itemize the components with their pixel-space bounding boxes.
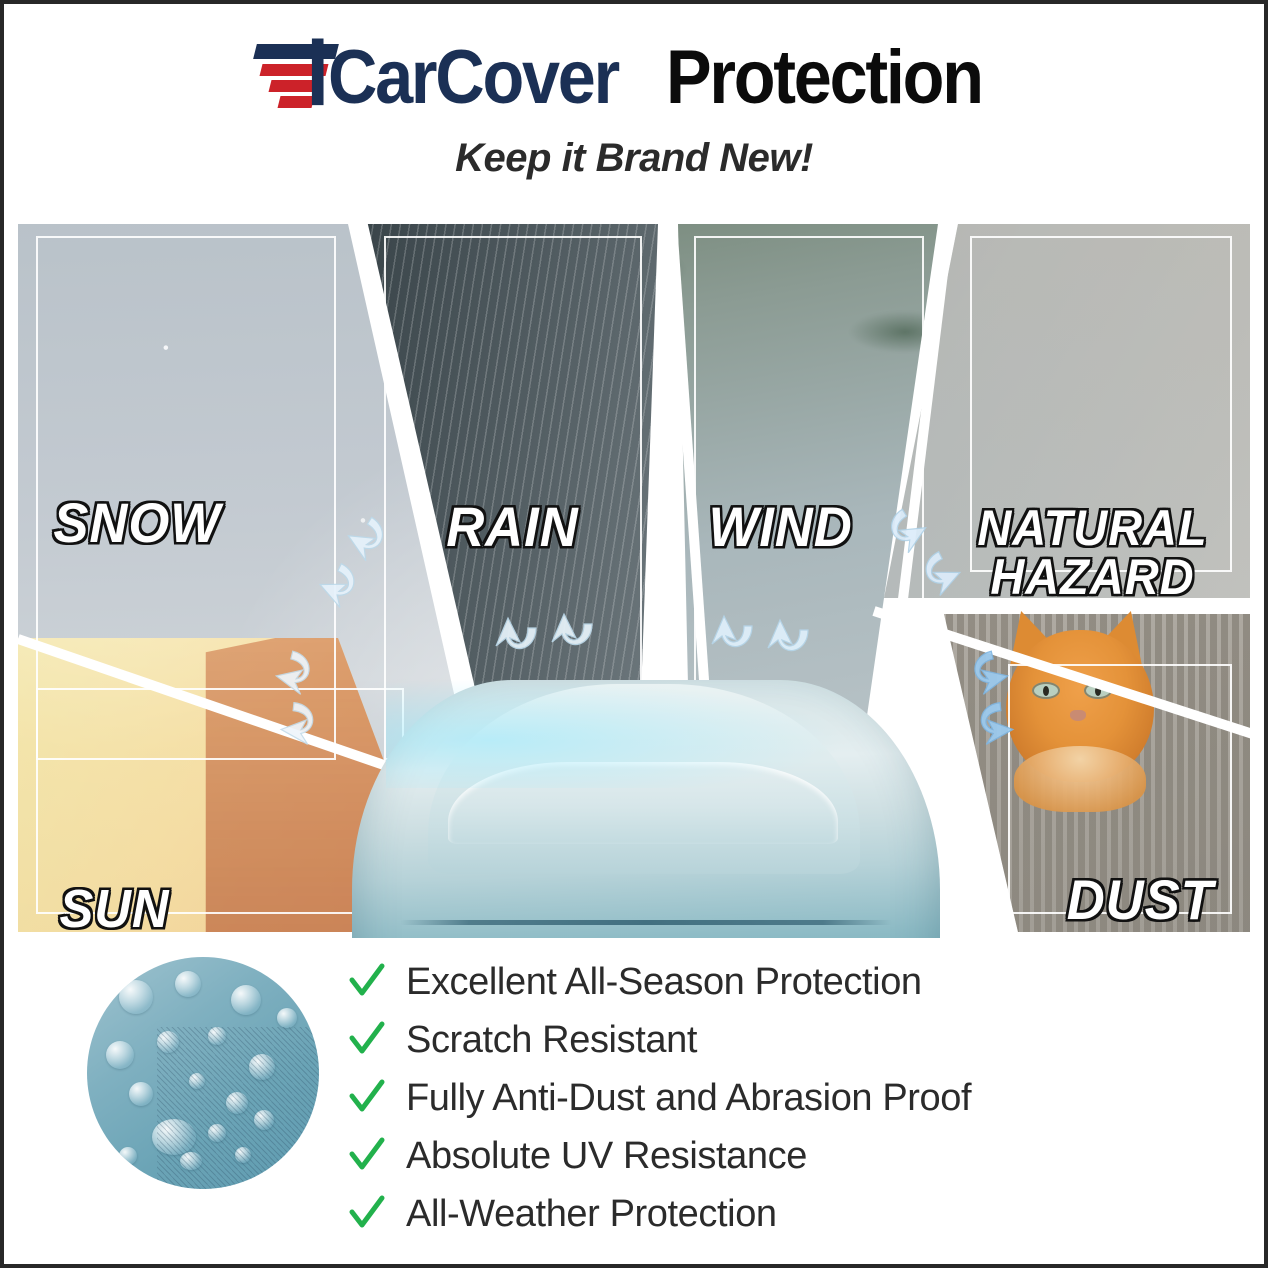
deflection-arrow-icon xyxy=(277,693,334,750)
label-wind: WIND xyxy=(709,500,853,555)
deflection-arrow-icon xyxy=(959,693,1016,750)
check-icon xyxy=(348,1079,386,1117)
feature-text: Scratch Resistant xyxy=(406,1021,697,1059)
car-cover-seam xyxy=(400,920,892,925)
check-icon xyxy=(348,1137,386,1175)
feature-list: Excellent All-Season Protection Scratch … xyxy=(348,954,971,1242)
features-section: Excellent All-Season Protection Scratch … xyxy=(4,940,1264,1266)
deflection-arrow-icon xyxy=(764,618,816,670)
tagline: Keep it Brand New! xyxy=(455,136,813,181)
deflection-arrow-icon xyxy=(708,614,760,666)
label-rain: RAIN xyxy=(446,500,578,555)
list-item: Excellent All-Season Protection xyxy=(348,954,971,1010)
car-cover-windshield xyxy=(448,762,838,844)
check-icon xyxy=(348,1021,386,1059)
label-dust: DUST xyxy=(1067,873,1214,928)
label-snow: SNOW xyxy=(53,496,221,551)
check-icon xyxy=(348,1195,386,1233)
deflection-arrow-icon xyxy=(548,612,600,664)
feature-text: All-Weather Protection xyxy=(406,1195,777,1233)
list-item: Fully Anti-Dust and Abrasion Proof xyxy=(348,1070,971,1126)
deflection-arrow-icon xyxy=(492,616,544,668)
water-beading-closeup xyxy=(87,957,319,1189)
fabric-swatch xyxy=(78,948,328,1198)
covered-car-product xyxy=(336,658,956,938)
label-sun: SUN xyxy=(60,883,170,936)
brand-initial: i xyxy=(306,28,328,120)
infographic-page: i CarCover Protection Keep it Brand New!… xyxy=(0,0,1268,1268)
list-item: All-Weather Protection xyxy=(348,1186,971,1242)
feature-text: Excellent All-Season Protection xyxy=(406,963,922,1001)
list-item: Scratch Resistant xyxy=(348,1012,971,1068)
brand-lockup: i CarCover Protection xyxy=(251,30,1018,126)
list-item: Absolute UV Resistance xyxy=(348,1128,971,1184)
feature-text: Absolute UV Resistance xyxy=(406,1137,807,1175)
check-icon xyxy=(348,963,386,1001)
header: i CarCover Protection Keep it Brand New! xyxy=(4,4,1264,209)
label-natural-hazard: NATURAL HAZARD xyxy=(977,504,1207,602)
brand-name: CarCover xyxy=(328,40,618,116)
brand-suffix: Protection xyxy=(666,40,982,116)
hero-panel-fan: ❄ xyxy=(18,218,1250,938)
feature-text: Fully Anti-Dust and Abrasion Proof xyxy=(406,1079,971,1117)
